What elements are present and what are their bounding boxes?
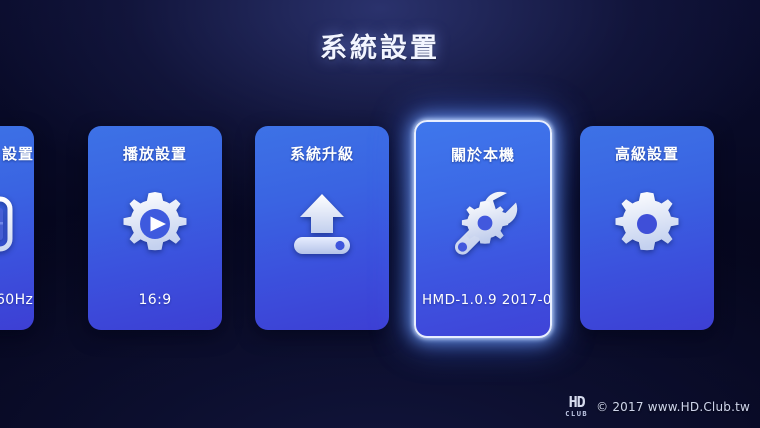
watermark: HD CLUB © 2017 www.HD.Club.tw [565, 395, 750, 418]
hdclub-logo: HD CLUB [565, 395, 588, 418]
tile-label: 系統升級 [255, 143, 389, 164]
gear-icon [580, 184, 714, 264]
tile-value: 60Hz [0, 292, 34, 308]
watermark-text: © 2017 www.HD.Club.tw [596, 400, 750, 414]
settings-tile-row: 設置 60Hz 播放設置 [0, 126, 760, 336]
tile-label: 關於本機 [416, 144, 550, 165]
tile-label: 設置 [0, 143, 34, 164]
tile-about-device[interactable]: 關於本機 [414, 120, 552, 338]
tile-value: 16:9 [88, 292, 222, 308]
tile-system-upgrade[interactable]: 系統升級 [255, 126, 389, 330]
system-settings-screen: 系統設置 設置 60Hz 播放設置 [0, 0, 760, 428]
page-title: 系統設置 [0, 26, 760, 65]
wrench-gear-icon [416, 184, 550, 264]
tile-display-settings[interactable]: 設置 60Hz [0, 126, 34, 330]
tile-label: 播放設置 [88, 143, 222, 164]
hdclub-logo-top: HD [569, 395, 585, 410]
hdclub-logo-bottom: CLUB [565, 411, 588, 418]
tile-playback-settings[interactable]: 播放設置 16:9 [88, 126, 222, 330]
tile-label: 高級設置 [580, 143, 714, 164]
upload-arrow-icon [255, 184, 389, 264]
tile-value: HMD-1.0.9 2017-07-0 [418, 292, 552, 308]
display-icon [0, 184, 34, 264]
tile-advanced-settings[interactable]: 高級設置 [580, 126, 714, 330]
gear-play-icon [88, 184, 222, 264]
